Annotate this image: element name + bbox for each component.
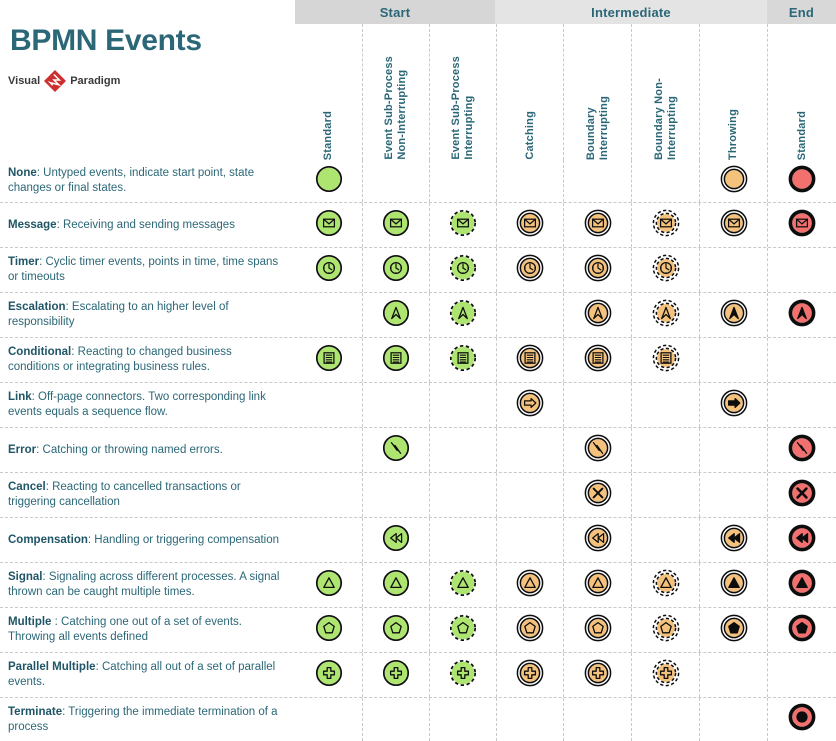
event-icon-compensation-int_boundary_int (582, 522, 614, 559)
row-label-desc: : Catching or throwing named errors. (36, 444, 223, 456)
matrix-cell-terminate-int_boundary_nonint (631, 698, 699, 741)
event-icon-message-start_sub_interrupt (447, 207, 479, 244)
column-header-int_boundary_nonint: Boundary Non- Interrupting (631, 24, 699, 160)
matrix-cell-parallel_multiple-start_standard (295, 653, 362, 697)
event-icon-message-int_throwing (718, 207, 750, 244)
event-icon-cancel-end_standard (786, 477, 818, 514)
row-label-name: Multiple (8, 616, 55, 628)
matrix-cell-conditional-int_throwing (699, 338, 767, 382)
matrix-cell-none-int_catching (496, 160, 563, 202)
matrix-cell-error-start_sub_noninterrupt (362, 428, 429, 472)
matrix-cell-cancel-int_boundary_int (563, 473, 631, 517)
matrix-cell-parallel_multiple-start_sub_interrupt (429, 653, 496, 697)
matrix-cell-link-int_throwing (699, 383, 767, 427)
matrix-cell-multiple-int_boundary_nonint (631, 608, 699, 652)
matrix-cell-signal-int_throwing (699, 563, 767, 607)
matrix-cell-parallel_multiple-end_standard (767, 653, 836, 697)
column-header-int_throwing: Throwing (699, 24, 767, 160)
matrix-cell-escalation-int_throwing (699, 293, 767, 337)
event-icon-timer-start_standard (313, 252, 345, 289)
matrix-cell-signal-start_sub_noninterrupt (362, 563, 429, 607)
matrix-cell-signal-int_boundary_nonint (631, 563, 699, 607)
matrix-cell-cancel-int_catching (496, 473, 563, 517)
matrix-cell-signal-start_standard (295, 563, 362, 607)
row-cells (295, 203, 836, 247)
row-label-desc: : Cyclic timer events, points in time, t… (8, 256, 278, 283)
row-cells (295, 473, 836, 517)
matrix-cell-none-end_standard (767, 160, 836, 202)
event-icon-conditional-start_sub_noninterrupt (380, 342, 412, 379)
matrix-cell-cancel-start_standard (295, 473, 362, 517)
column-header-start_sub_noninterrupt: Event Sub-Process Non-Interrupting (362, 24, 429, 160)
event-icon-signal-int_throwing (718, 567, 750, 604)
column-header-int_boundary_int: Boundary Interrupting (563, 24, 631, 160)
event-icon-message-end_standard (786, 207, 818, 244)
matrix-cell-parallel_multiple-int_boundary_int (563, 653, 631, 697)
matrix-cell-conditional-int_boundary_int (563, 338, 631, 382)
matrix-cell-message-int_throwing (699, 203, 767, 247)
row-label-desc: : Signaling across different processes. … (8, 571, 279, 598)
column-header-start_standard: Standard (295, 24, 362, 160)
matrix-cell-escalation-end_standard (767, 293, 836, 337)
row-label-name: Conditional (8, 346, 71, 358)
column-header-label: Boundary Non- Interrupting (653, 72, 679, 160)
event-icon-message-start_standard (313, 207, 345, 244)
event-icon-link-int_throwing (718, 387, 750, 424)
matrix-cell-parallel_multiple-int_boundary_nonint (631, 653, 699, 697)
matrix-cell-none-start_standard (295, 160, 362, 202)
event-icon-signal-int_boundary_nonint (650, 567, 682, 604)
matrix-cell-escalation-start_sub_noninterrupt (362, 293, 429, 337)
matrix-cell-none-int_boundary_int (563, 160, 631, 202)
matrix-cell-escalation-int_boundary_int (563, 293, 631, 337)
event-icon-conditional-int_catching (514, 342, 546, 379)
matrix-cell-compensation-start_sub_noninterrupt (362, 518, 429, 562)
matrix-cell-terminate-int_boundary_int (563, 698, 631, 741)
row-label-name: Terminate (8, 706, 62, 718)
column-header-label: Event Sub-Process Interrupting (450, 50, 476, 160)
column-header-label: Standard (796, 105, 809, 160)
matrix-cell-conditional-start_standard (295, 338, 362, 382)
matrix-cell-timer-int_boundary_nonint (631, 248, 699, 292)
column-header-end_standard: Standard (767, 24, 836, 160)
event-icon-signal-end_standard (786, 567, 818, 604)
matrix-cell-message-int_catching (496, 203, 563, 247)
row-label-timer: Timer: Cyclic timer events, points in ti… (8, 248, 286, 292)
row-label-desc: : Off-page connectors. Two corresponding… (8, 391, 266, 418)
matrix-cell-none-int_throwing (699, 160, 767, 202)
matrix-cell-none-int_boundary_nonint (631, 160, 699, 202)
matrix-cell-escalation-int_catching (496, 293, 563, 337)
matrix-cell-multiple-start_sub_interrupt (429, 608, 496, 652)
matrix-cell-timer-start_sub_noninterrupt (362, 248, 429, 292)
row-cells (295, 653, 836, 697)
event-icon-error-int_boundary_int (582, 432, 614, 469)
event-icon-parallel_multiple-start_standard (313, 657, 345, 694)
matrix-cell-multiple-int_catching (496, 608, 563, 652)
matrix-cell-error-int_throwing (699, 428, 767, 472)
row-label-name: Error (8, 444, 36, 456)
row-label-escalation: Escalation: Escalating to an higher leve… (8, 293, 286, 337)
column-header-label: Standard (322, 105, 335, 160)
row-label-error: Error: Catching or throwing named errors… (8, 428, 286, 472)
table-row: Cancel: Reacting to cancelled transactio… (0, 473, 836, 518)
event-icon-compensation-start_sub_noninterrupt (380, 522, 412, 559)
visual-paradigm-logo: Visual Paradigm (8, 70, 120, 92)
row-cells (295, 518, 836, 562)
row-cells (295, 160, 836, 202)
row-cells (295, 338, 836, 382)
matrix-cell-terminate-start_sub_interrupt (429, 698, 496, 741)
row-label-none: None: Untyped events, indicate start poi… (8, 160, 286, 202)
matrix-cell-link-start_sub_interrupt (429, 383, 496, 427)
event-icon-parallel_multiple-int_boundary_nonint (650, 657, 682, 694)
event-icon-error-start_sub_noninterrupt (380, 432, 412, 469)
matrix-cell-conditional-end_standard (767, 338, 836, 382)
row-label-name: Escalation (8, 301, 66, 313)
matrix-cell-timer-start_standard (295, 248, 362, 292)
matrix-cell-message-int_boundary_int (563, 203, 631, 247)
matrix-cell-timer-start_sub_interrupt (429, 248, 496, 292)
row-cells (295, 428, 836, 472)
matrix-cell-signal-int_boundary_int (563, 563, 631, 607)
matrix-cell-cancel-end_standard (767, 473, 836, 517)
matrix-cell-message-start_sub_interrupt (429, 203, 496, 247)
matrix-cell-cancel-int_throwing (699, 473, 767, 517)
matrix-cell-error-start_sub_interrupt (429, 428, 496, 472)
event-icon-signal-start_standard (313, 567, 345, 604)
group-header-intermediate: Intermediate (495, 0, 767, 24)
matrix-cell-conditional-int_catching (496, 338, 563, 382)
event-icon-compensation-int_throwing (718, 522, 750, 559)
column-header-label: Event Sub-Process Non-Interrupting (383, 50, 409, 160)
table-row: Escalation: Escalating to an higher leve… (0, 293, 836, 338)
matrix-cell-error-end_standard (767, 428, 836, 472)
event-icon-timer-int_boundary_nonint (650, 252, 682, 289)
events-matrix: None: Untyped events, indicate start poi… (0, 160, 836, 741)
table-row: Link: Off-page connectors. Two correspon… (0, 383, 836, 428)
event-icon-message-start_sub_noninterrupt (380, 207, 412, 244)
event-icon-timer-start_sub_noninterrupt (380, 252, 412, 289)
matrix-cell-escalation-start_standard (295, 293, 362, 337)
matrix-cell-cancel-start_sub_noninterrupt (362, 473, 429, 517)
row-cells (295, 563, 836, 607)
group-header-end: End (767, 0, 836, 24)
table-row: Compensation: Handling or triggering com… (0, 518, 836, 563)
event-icon-signal-int_catching (514, 567, 546, 604)
matrix-cell-error-int_boundary_int (563, 428, 631, 472)
row-label-name: None (8, 167, 37, 179)
table-row: Parallel Multiple: Catching all out of a… (0, 653, 836, 698)
matrix-cell-link-int_boundary_int (563, 383, 631, 427)
matrix-cell-multiple-int_throwing (699, 608, 767, 652)
event-icon-link-int_catching (514, 387, 546, 424)
column-header-int_catching: Catching (496, 24, 563, 160)
matrix-cell-message-start_standard (295, 203, 362, 247)
event-icon-multiple-start_standard (313, 612, 345, 649)
matrix-cell-timer-int_catching (496, 248, 563, 292)
row-label-link: Link: Off-page connectors. Two correspon… (8, 383, 286, 427)
matrix-cell-message-int_boundary_nonint (631, 203, 699, 247)
matrix-cell-parallel_multiple-start_sub_noninterrupt (362, 653, 429, 697)
column-header-label: Catching (524, 105, 537, 160)
matrix-cell-conditional-start_sub_noninterrupt (362, 338, 429, 382)
event-icon-none-int_throwing (718, 163, 750, 200)
row-label-name: Timer (8, 256, 39, 268)
row-cells (295, 293, 836, 337)
matrix-cell-conditional-int_boundary_nonint (631, 338, 699, 382)
row-label-parallel_multiple: Parallel Multiple: Catching all out of a… (8, 653, 286, 697)
row-cells (295, 608, 836, 652)
matrix-cell-error-int_boundary_nonint (631, 428, 699, 472)
event-icon-terminate-end_standard (786, 701, 818, 738)
event-icon-escalation-int_boundary_int (582, 297, 614, 334)
page-title: BPMN Events (10, 24, 202, 58)
matrix-cell-compensation-int_boundary_nonint (631, 518, 699, 562)
matrix-cell-terminate-start_standard (295, 698, 362, 741)
row-label-terminate: Terminate: Triggering the immediate term… (8, 698, 286, 741)
column-header-label: Throwing (727, 103, 740, 160)
matrix-cell-timer-int_throwing (699, 248, 767, 292)
event-icon-timer-int_catching (514, 252, 546, 289)
event-icon-message-int_boundary_int (582, 207, 614, 244)
table-row: Error: Catching or throwing named errors… (0, 428, 836, 473)
matrix-cell-escalation-start_sub_interrupt (429, 293, 496, 337)
row-label-name: Cancel (8, 481, 46, 493)
matrix-cell-error-int_catching (496, 428, 563, 472)
event-icon-multiple-start_sub_interrupt (447, 612, 479, 649)
matrix-cell-signal-end_standard (767, 563, 836, 607)
column-header-row: StandardEvent Sub-Process Non-Interrupti… (295, 24, 836, 160)
row-cells (295, 698, 836, 741)
logo-word-visual: Visual (8, 75, 40, 87)
matrix-cell-parallel_multiple-int_catching (496, 653, 563, 697)
group-header-end-label: End (767, 0, 836, 24)
table-row: None: Untyped events, indicate start poi… (0, 160, 836, 203)
matrix-cell-signal-int_catching (496, 563, 563, 607)
matrix-cell-link-start_standard (295, 383, 362, 427)
event-icon-cancel-int_boundary_int (582, 477, 614, 514)
group-header-start: Start (295, 0, 495, 24)
event-icon-parallel_multiple-start_sub_interrupt (447, 657, 479, 694)
matrix-cell-link-end_standard (767, 383, 836, 427)
event-icon-multiple-int_boundary_nonint (650, 612, 682, 649)
event-icon-escalation-end_standard (786, 297, 818, 334)
event-icon-multiple-int_catching (514, 612, 546, 649)
matrix-cell-compensation-int_boundary_int (563, 518, 631, 562)
event-icon-message-int_catching (514, 207, 546, 244)
row-label-name: Parallel Multiple (8, 661, 96, 673)
matrix-cell-timer-int_boundary_int (563, 248, 631, 292)
row-label-signal: Signal: Signaling across different proce… (8, 563, 286, 607)
matrix-cell-multiple-end_standard (767, 608, 836, 652)
bpmn-events-poster: BPMN Events Visual Paradigm Start Interm… (0, 0, 836, 741)
row-label-desc: : Untyped events, indicate start point, … (8, 167, 254, 194)
event-icon-error-end_standard (786, 432, 818, 469)
matrix-cell-compensation-int_catching (496, 518, 563, 562)
row-cells (295, 383, 836, 427)
event-icon-signal-int_boundary_int (582, 567, 614, 604)
event-icon-conditional-int_boundary_int (582, 342, 614, 379)
matrix-cell-multiple-start_standard (295, 608, 362, 652)
row-label-name: Signal (8, 571, 43, 583)
matrix-cell-error-start_standard (295, 428, 362, 472)
event-icon-parallel_multiple-start_sub_noninterrupt (380, 657, 412, 694)
event-icon-parallel_multiple-int_boundary_int (582, 657, 614, 694)
row-label-conditional: Conditional: Reacting to changed busines… (8, 338, 286, 382)
title-block: BPMN Events Visual Paradigm (0, 0, 295, 160)
table-row: Message: Receiving and sending messages (0, 203, 836, 248)
matrix-cell-multiple-int_boundary_int (563, 608, 631, 652)
matrix-cell-terminate-start_sub_noninterrupt (362, 698, 429, 741)
event-icon-none-start_standard (313, 163, 345, 200)
logo-word-paradigm: Paradigm (70, 75, 120, 87)
row-label-compensation: Compensation: Handling or triggering com… (8, 518, 286, 562)
event-icon-conditional-start_standard (313, 342, 345, 379)
group-header-start-label: Start (295, 0, 495, 24)
table-row: Conditional: Reacting to changed busines… (0, 338, 836, 383)
table-row: Multiple : Catching one out of a set of … (0, 608, 836, 653)
event-icon-multiple-end_standard (786, 612, 818, 649)
event-icon-escalation-int_boundary_nonint (650, 297, 682, 334)
matrix-cell-compensation-start_sub_interrupt (429, 518, 496, 562)
event-icon-parallel_multiple-int_catching (514, 657, 546, 694)
matrix-cell-terminate-end_standard (767, 698, 836, 741)
matrix-cell-message-start_sub_noninterrupt (362, 203, 429, 247)
row-label-name: Compensation (8, 534, 88, 546)
matrix-cell-parallel_multiple-int_throwing (699, 653, 767, 697)
table-row: Terminate: Triggering the immediate term… (0, 698, 836, 741)
matrix-cell-link-int_catching (496, 383, 563, 427)
matrix-cell-compensation-end_standard (767, 518, 836, 562)
row-label-desc: : Receiving and sending messages (57, 219, 235, 231)
matrix-cell-none-start_sub_interrupt (429, 160, 496, 202)
table-row: Timer: Cyclic timer events, points in ti… (0, 248, 836, 293)
group-header-intermediate-label: Intermediate (495, 0, 767, 24)
event-icon-escalation-int_throwing (718, 297, 750, 334)
matrix-cell-compensation-start_standard (295, 518, 362, 562)
event-icon-timer-start_sub_interrupt (447, 252, 479, 289)
table-row: Signal: Signaling across different proce… (0, 563, 836, 608)
event-icon-escalation-start_sub_interrupt (447, 297, 479, 334)
row-label-cancel: Cancel: Reacting to cancelled transactio… (8, 473, 286, 517)
matrix-cell-link-start_sub_noninterrupt (362, 383, 429, 427)
matrix-cell-cancel-start_sub_interrupt (429, 473, 496, 517)
matrix-cell-escalation-int_boundary_nonint (631, 293, 699, 337)
matrix-cell-conditional-start_sub_interrupt (429, 338, 496, 382)
event-icon-escalation-start_sub_noninterrupt (380, 297, 412, 334)
matrix-cell-cancel-int_boundary_nonint (631, 473, 699, 517)
event-icon-compensation-end_standard (786, 522, 818, 559)
event-icon-multiple-int_throwing (718, 612, 750, 649)
row-label-desc: : Handling or triggering compensation (88, 534, 279, 546)
matrix-cell-terminate-int_catching (496, 698, 563, 741)
row-label-name: Link (8, 391, 32, 403)
matrix-cell-timer-end_standard (767, 248, 836, 292)
event-icon-conditional-start_sub_interrupt (447, 342, 479, 379)
matrix-cell-terminate-int_throwing (699, 698, 767, 741)
matrix-cell-none-start_sub_noninterrupt (362, 160, 429, 202)
event-icon-signal-start_sub_noninterrupt (380, 567, 412, 604)
matrix-cell-link-int_boundary_nonint (631, 383, 699, 427)
column-header-label: Boundary Interrupting (585, 90, 611, 160)
matrix-cell-message-end_standard (767, 203, 836, 247)
event-icon-multiple-start_sub_noninterrupt (380, 612, 412, 649)
vp-diamond-icon (44, 70, 66, 92)
column-header-start_sub_interrupt: Event Sub-Process Interrupting (429, 24, 496, 160)
row-label-name: Message (8, 219, 57, 231)
event-icon-signal-start_sub_interrupt (447, 567, 479, 604)
event-icon-multiple-int_boundary_int (582, 612, 614, 649)
row-label-message: Message: Receiving and sending messages (8, 203, 286, 247)
event-icon-conditional-int_boundary_nonint (650, 342, 682, 379)
matrix-cell-signal-start_sub_interrupt (429, 563, 496, 607)
row-cells (295, 248, 836, 292)
matrix-cell-compensation-int_throwing (699, 518, 767, 562)
event-icon-message-int_boundary_nonint (650, 207, 682, 244)
row-label-multiple: Multiple : Catching one out of a set of … (8, 608, 286, 652)
event-icon-timer-int_boundary_int (582, 252, 614, 289)
event-icon-none-end_standard (786, 163, 818, 200)
matrix-cell-multiple-start_sub_noninterrupt (362, 608, 429, 652)
